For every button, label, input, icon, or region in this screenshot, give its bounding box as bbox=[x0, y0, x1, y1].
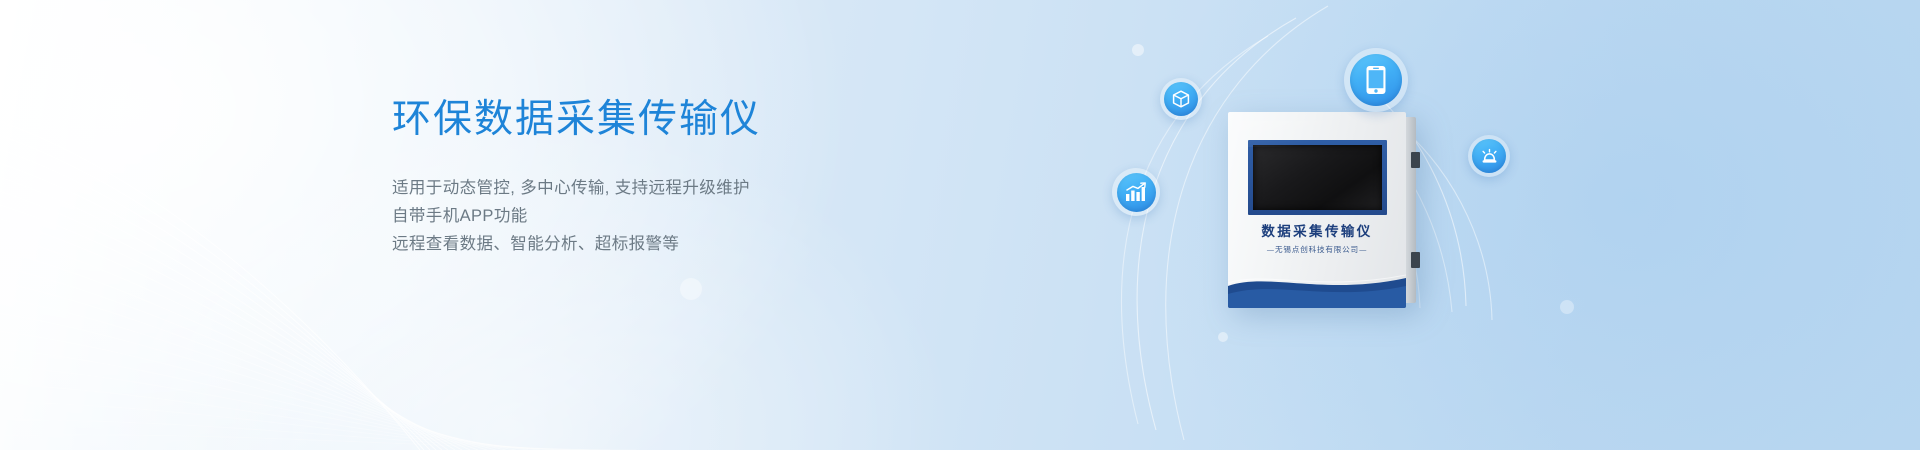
device-hinge-bottom bbox=[1411, 252, 1420, 268]
banner-copy: 环保数据采集传输仪 适用于动态管控, 多中心传输, 支持远程升级维护 自带手机A… bbox=[392, 96, 1012, 258]
device-front-panel: 数据采集传输仪 —无锡点创科技有限公司— bbox=[1228, 112, 1406, 308]
data-acquisition-device: 数据采集传输仪 —无锡点创科技有限公司— bbox=[1228, 112, 1406, 308]
banner-subtitle-line-3: 远程查看数据、智能分析、超标报警等 bbox=[392, 230, 1012, 258]
device-screen-glare bbox=[1237, 121, 1341, 147]
bar-chart-icon bbox=[1117, 173, 1156, 212]
device-screen-bezel bbox=[1248, 140, 1387, 215]
badge-package-box[interactable] bbox=[1160, 78, 1202, 120]
badge-mobile-phone[interactable] bbox=[1344, 48, 1408, 112]
device-hinge-top bbox=[1411, 152, 1420, 168]
badge-bar-chart[interactable] bbox=[1112, 168, 1160, 216]
banner-subtitle-list: 适用于动态管控, 多中心传输, 支持远程升级维护 自带手机APP功能 远程查看数… bbox=[392, 174, 1012, 258]
device-screen bbox=[1253, 145, 1382, 210]
banner-title: 环保数据采集传输仪 bbox=[392, 96, 1012, 144]
package-box-icon bbox=[1164, 82, 1198, 116]
device-company-name: —无锡点创科技有限公司— bbox=[1228, 244, 1406, 255]
banner-subtitle-line-2: 自带手机APP功能 bbox=[392, 202, 1012, 230]
device-footer-wave bbox=[1228, 262, 1406, 308]
mobile-phone-icon bbox=[1350, 54, 1402, 106]
product-visual: 数据采集传输仪 —无锡点创科技有限公司— bbox=[1060, 0, 1760, 450]
device-side-panel bbox=[1405, 117, 1416, 303]
banner-subtitle-line-1: 适用于动态管控, 多中心传输, 支持远程升级维护 bbox=[392, 174, 1012, 202]
alarm-siren-icon bbox=[1472, 139, 1506, 173]
product-banner: 环保数据采集传输仪 适用于动态管控, 多中心传输, 支持远程升级维护 自带手机A… bbox=[0, 0, 1920, 450]
device-label-block: 数据采集传输仪 —无锡点创科技有限公司— bbox=[1228, 220, 1406, 255]
device-model-name: 数据采集传输仪 bbox=[1228, 220, 1406, 240]
badge-alarm-siren[interactable] bbox=[1468, 135, 1510, 177]
